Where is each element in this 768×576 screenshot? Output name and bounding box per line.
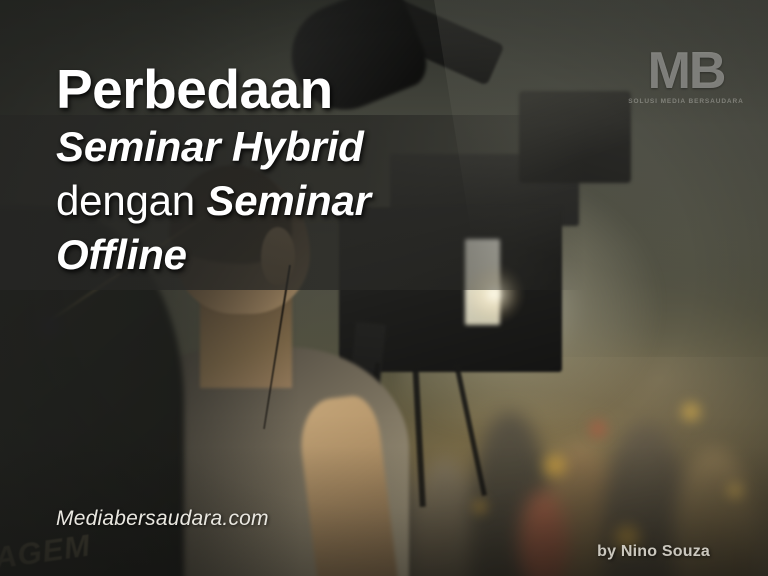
brand-logo: MB SOLUSI MEDIA BERSAUDARA: [628, 48, 744, 105]
headline-line-3-prefix: dengan: [56, 177, 206, 224]
headline-line-3: dengan Seminar: [56, 180, 616, 222]
headline-line-1: Perbedaan: [56, 62, 616, 117]
photo-credit: by Nino Souza: [597, 543, 710, 561]
headline-line-3-emphasis: Seminar: [206, 177, 370, 224]
brand-logo-mark: MB: [628, 48, 744, 96]
headline-line-2: Seminar Hybrid: [56, 126, 616, 168]
promo-banner: AGEM Perbedaan Seminar Hybrid dengan Sem…: [0, 0, 768, 576]
brand-logo-tagline: SOLUSI MEDIA BERSAUDARA: [628, 98, 744, 105]
website-url: Mediabersaudara.com: [56, 507, 269, 531]
headline-block: Perbedaan Seminar Hybrid dengan Seminar …: [56, 62, 616, 276]
headline-line-4: Offline: [56, 234, 616, 276]
banner-content: Perbedaan Seminar Hybrid dengan Seminar …: [0, 0, 768, 576]
